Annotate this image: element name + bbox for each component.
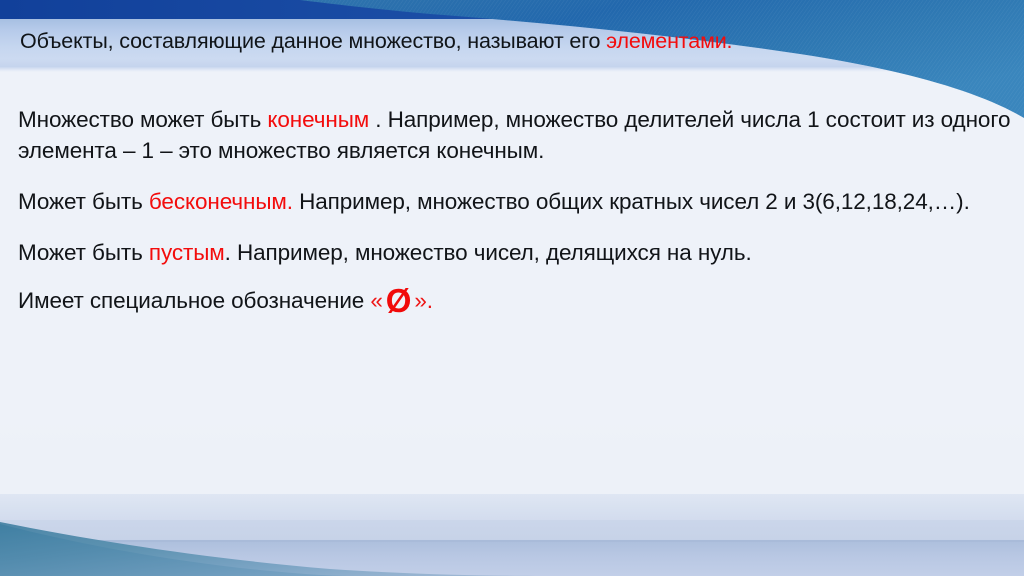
- header-text-plain: Объекты, составляющие данное множество, …: [20, 29, 606, 53]
- paragraph-infinite-highlight: бесконечным.: [149, 189, 293, 214]
- paragraph-finite-set: Множество может быть конечным . Например…: [18, 104, 1013, 166]
- notation-lead-text: Имеет специальное обозначение: [18, 288, 370, 313]
- paragraph-finite-part1: Множество может быть: [18, 107, 267, 132]
- paragraph-empty-highlight: пустым: [149, 240, 225, 265]
- paragraph-empty-part1: Может быть: [18, 240, 149, 265]
- presentation-slide: Объекты, составляющие данное множество, …: [0, 0, 1024, 576]
- notation-close-quote: »: [414, 288, 426, 313]
- paragraph-spacer-1: [18, 166, 1013, 186]
- notation-terminator: .: [427, 288, 433, 313]
- paragraph-empty-part2: . Например, множество чисел, делящихся н…: [225, 240, 752, 265]
- empty-set-symbol: Ø: [383, 282, 415, 319]
- paragraph-finite-highlight: конечным: [267, 107, 369, 132]
- paragraph-spacer-3: [18, 268, 1013, 285]
- paragraph-infinite-set: Может быть бесконечным. Например, множес…: [18, 186, 1013, 217]
- paragraph-infinite-part2: Например, множество общих кратных чисел …: [293, 189, 970, 214]
- header-text-highlight: элементами.: [606, 29, 732, 53]
- slide-body: Множество может быть конечным . Например…: [18, 104, 1013, 316]
- paragraph-spacer-2: [18, 217, 1013, 237]
- paragraph-infinite-part1: Может быть: [18, 189, 149, 214]
- teal-corner-wedge: [0, 470, 1024, 576]
- notation-open-quote: «: [370, 288, 382, 313]
- slide-header-text: Объекты, составляющие данное множество, …: [20, 28, 1010, 54]
- paragraph-empty-set: Может быть пустым. Например, множество ч…: [18, 237, 1013, 268]
- paragraph-notation: Имеет специальное обозначение «Ø».: [18, 285, 1013, 316]
